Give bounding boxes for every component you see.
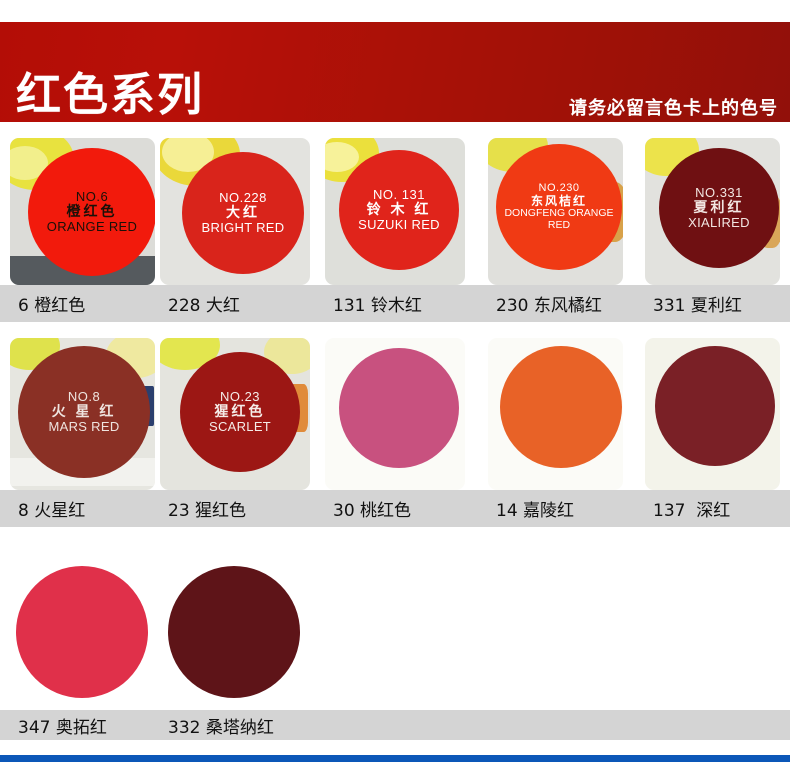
swatch-caption: 137 深红 bbox=[653, 490, 730, 527]
swatch-name-en: BRIGHT RED bbox=[202, 221, 285, 236]
swatch-name-cn: 夏利红 bbox=[694, 200, 745, 216]
swatch-background bbox=[10, 558, 155, 710]
color-disc: NO. 131铃 木 红SUZUKI RED bbox=[339, 150, 459, 270]
swatch-row: NO.8火 星 红MARS REDNO.23猩红色SCARLET bbox=[0, 338, 790, 490]
swatch-caption: 30 桃红色 bbox=[333, 490, 411, 527]
color-swatch-card[interactable]: NO.8火 星 红MARS RED bbox=[10, 338, 155, 490]
swatch-code: NO.8 bbox=[68, 390, 100, 405]
swatch-name-en: ORANGE RED bbox=[47, 220, 137, 235]
color-swatch-card[interactable] bbox=[325, 338, 465, 490]
swatch-name-cn: 猩红色 bbox=[215, 404, 266, 420]
swatch-background bbox=[160, 558, 310, 710]
color-swatch-card[interactable]: NO.331夏利红XIALIRED bbox=[645, 138, 780, 285]
swatch-name-cn: 火 星 红 bbox=[52, 404, 117, 420]
color-disc: NO.230东风桔红DONGFENG ORANGE RED bbox=[496, 144, 622, 270]
swatch-name-en: XIALIRED bbox=[688, 216, 750, 231]
color-disc bbox=[16, 566, 148, 698]
swatch-caption: 228 大红 bbox=[168, 285, 240, 322]
color-swatch-card[interactable] bbox=[645, 338, 780, 490]
color-swatch-card[interactable] bbox=[488, 338, 623, 490]
bottom-rule bbox=[0, 755, 790, 762]
swatch-photo: NO. 131铃 木 红SUZUKI RED bbox=[325, 138, 465, 285]
color-swatch-card[interactable]: NO.23猩红色SCARLET bbox=[160, 338, 310, 490]
swatch-name-cn: 大红 bbox=[226, 205, 260, 221]
swatch-caption: 331 夏利红 bbox=[653, 285, 742, 322]
swatch-code: NO.6 bbox=[76, 190, 108, 205]
color-swatch-card[interactable]: NO.228大红BRIGHT RED bbox=[160, 138, 310, 285]
caption-bar bbox=[0, 710, 790, 740]
swatch-caption: 8 火星红 bbox=[18, 490, 85, 527]
swatch-photo bbox=[645, 338, 780, 490]
swatch-caption: 230 东风橘红 bbox=[496, 285, 602, 322]
color-swatch-card[interactable] bbox=[10, 558, 155, 710]
color-swatch-card[interactable]: NO.6橙红色ORANGE RED bbox=[10, 138, 155, 285]
swatch-code: NO.23 bbox=[220, 390, 260, 405]
swatch-caption: 14 嘉陵红 bbox=[496, 490, 574, 527]
swatch-caption: 23 猩红色 bbox=[168, 490, 246, 527]
color-disc: NO.6橙红色ORANGE RED bbox=[28, 148, 155, 276]
swatch-photo: NO.228大红BRIGHT RED bbox=[160, 138, 310, 285]
swatch-name-en: MARS RED bbox=[48, 420, 119, 435]
swatch-caption: 347 奥拓红 bbox=[18, 710, 107, 740]
color-disc bbox=[500, 346, 622, 468]
swatch-code: NO.331 bbox=[695, 186, 743, 201]
color-disc: NO.331夏利红XIALIRED bbox=[659, 148, 779, 268]
color-disc: NO.23猩红色SCARLET bbox=[180, 352, 300, 472]
swatch-caption: 131 铃木红 bbox=[333, 285, 422, 322]
swatch-caption: 332 桑塔纳红 bbox=[168, 710, 274, 740]
color-swatch-card[interactable]: NO. 131铃 木 红SUZUKI RED bbox=[325, 138, 465, 285]
color-disc: NO.228大红BRIGHT RED bbox=[182, 152, 304, 274]
swatch-name-en: SCARLET bbox=[209, 420, 271, 435]
swatch-photo: NO.6橙红色ORANGE RED bbox=[10, 138, 155, 285]
color-disc: NO.8火 星 红MARS RED bbox=[18, 346, 150, 478]
swatch-name-cn: 橙红色 bbox=[67, 204, 118, 220]
swatch-name-en: DONGFENG ORANGE RED bbox=[496, 208, 622, 232]
header-note: 请务必留言色卡上的色号 bbox=[569, 100, 778, 118]
color-swatch-card[interactable]: NO.230东风桔红DONGFENG ORANGE RED bbox=[488, 138, 623, 285]
swatch-caption: 6 橙红色 bbox=[18, 285, 85, 322]
page-header-banner: 红色系列 请务必留言色卡上的色号 bbox=[0, 22, 790, 122]
swatch-row bbox=[0, 558, 790, 710]
swatch-photo bbox=[488, 338, 623, 490]
swatch-photo: NO.230东风桔红DONGFENG ORANGE RED bbox=[488, 138, 623, 285]
color-disc bbox=[655, 346, 775, 466]
color-swatch-card[interactable] bbox=[160, 558, 310, 710]
color-disc bbox=[168, 566, 300, 698]
swatch-row: NO.6橙红色ORANGE REDNO.228大红BRIGHT REDNO. 1… bbox=[0, 138, 790, 285]
page-title: 红色系列 bbox=[16, 72, 204, 117]
swatch-name-cn: 东风桔红 bbox=[531, 195, 587, 208]
swatch-photo bbox=[325, 338, 465, 490]
swatch-code: NO.228 bbox=[219, 191, 267, 206]
swatch-photo: NO.23猩红色SCARLET bbox=[160, 338, 310, 490]
swatch-code: NO.230 bbox=[539, 182, 580, 194]
swatch-code: NO. 131 bbox=[373, 188, 425, 203]
swatch-photo: NO.8火 星 红MARS RED bbox=[10, 338, 155, 490]
swatch-name-en: SUZUKI RED bbox=[358, 218, 440, 233]
swatch-photo: NO.331夏利红XIALIRED bbox=[645, 138, 780, 285]
swatch-name-cn: 铃 木 红 bbox=[367, 202, 432, 218]
color-disc bbox=[339, 348, 459, 468]
